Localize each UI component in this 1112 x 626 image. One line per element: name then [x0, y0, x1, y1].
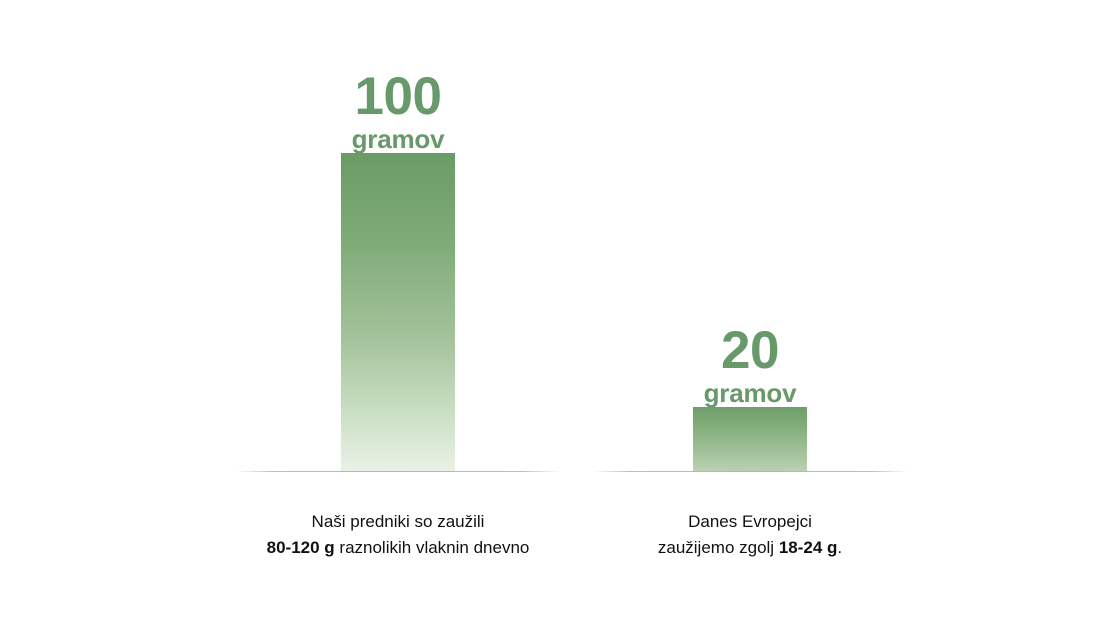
fiber-intake-bar-chart: 100 gramov Naši predniki so zaužili 80-1…	[0, 0, 1112, 626]
caption-europeans: Danes Evropejci zaužijemo zgolj 18-24 g.	[585, 509, 915, 562]
value-label-ancestors: 100 gramov	[228, 70, 568, 153]
baseline-ancestors	[236, 471, 560, 472]
bar-group-europeans: 20 gramov Danes Evropejci zaužijemo zgol…	[585, 0, 915, 626]
bar-group-ancestors: 100 gramov Naši predniki so zaužili 80-1…	[228, 0, 568, 626]
caption-ancestors: Naši predniki so zaužili 80-120 g raznol…	[228, 509, 568, 562]
value-number-europeans: 20	[585, 324, 915, 378]
caption-ancestors-line1: Naši predniki so zaužili	[228, 509, 568, 535]
caption-europeans-line2-pre: zaužijemo zgolj	[658, 538, 779, 557]
caption-ancestors-amount: 80-120 g	[267, 538, 335, 557]
value-label-europeans: 20 gramov	[585, 324, 915, 407]
caption-europeans-line2-rest: .	[837, 538, 842, 557]
value-unit-europeans: gramov	[585, 380, 915, 407]
bar-europeans	[693, 407, 807, 471]
caption-europeans-line2: zaužijemo zgolj 18-24 g.	[585, 535, 915, 561]
value-number-ancestors: 100	[228, 70, 568, 124]
caption-europeans-amount: 18-24 g	[779, 538, 838, 557]
caption-ancestors-line2: 80-120 g raznolikih vlaknin dnevno	[228, 535, 568, 561]
baseline-europeans	[593, 471, 908, 472]
value-unit-ancestors: gramov	[228, 126, 568, 153]
bar-ancestors	[341, 153, 455, 471]
caption-europeans-line1: Danes Evropejci	[585, 509, 915, 535]
caption-ancestors-line2-rest: raznolikih vlaknin dnevno	[335, 538, 530, 557]
